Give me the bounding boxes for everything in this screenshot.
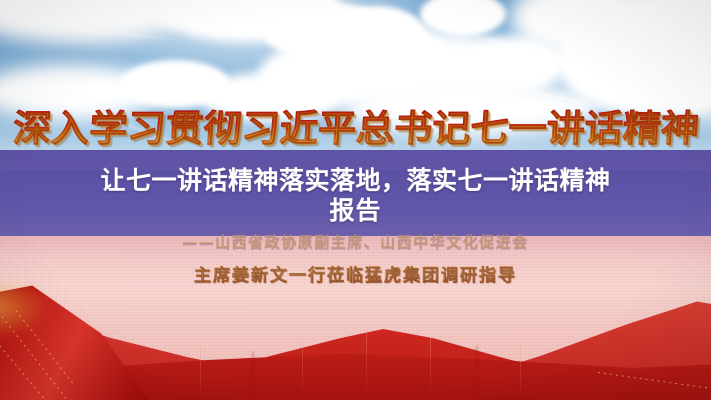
fabric-shadow-line bbox=[476, 346, 478, 400]
fabric-shadow-line bbox=[252, 352, 254, 400]
fabric-fold-line bbox=[200, 348, 201, 400]
poster-title-block: 让七一讲话精神落实落地，落实七一讲话精神 报告 bbox=[0, 166, 711, 226]
drape-highlight-glow bbox=[0, 282, 50, 338]
banner-headline-container: 深入学习贯彻习近平总书记七一讲话精神 bbox=[0, 103, 711, 153]
poster-subtitle-line-2: 主席姜新文一行莅临猛虎集团调研指导 bbox=[0, 261, 711, 286]
fabric-fold-line bbox=[302, 340, 303, 400]
poster-image: 深入学习贯彻习近平总书记七一讲话精神 让七一讲话精神落实落地，落实七一讲话精神 … bbox=[0, 0, 711, 400]
poster-title-line-2: 报告 bbox=[0, 196, 711, 226]
poster-subtitle-line-1: ——山西省政协原副主席、山西中华文化促进会 bbox=[0, 231, 711, 252]
fabric-fold-line bbox=[366, 330, 367, 400]
poster-title-line-1: 让七一讲话精神落实落地，落实七一讲话精神 bbox=[0, 166, 711, 196]
banner-headline-text: 深入学习贯彻习近平总书记七一讲话精神 bbox=[11, 110, 700, 147]
fabric-fold-line bbox=[520, 344, 521, 400]
fabric-fold-line bbox=[430, 336, 431, 400]
